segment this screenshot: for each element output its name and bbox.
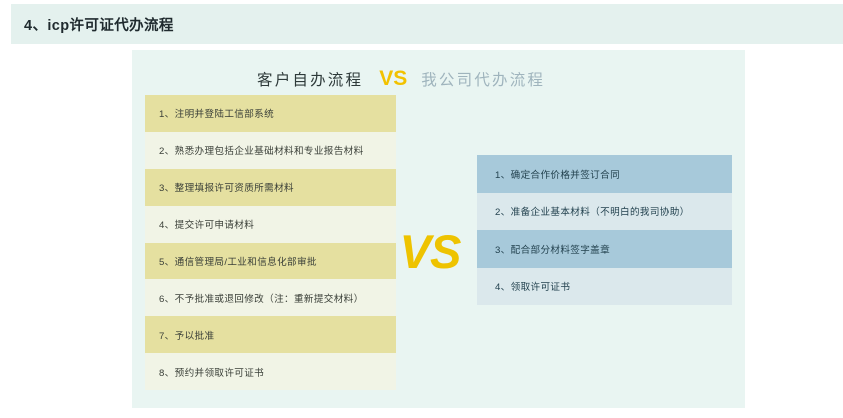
list-item: 2、熟悉办理包括企业基础材料和专业报告材料 <box>145 132 396 169</box>
list-item: 3、配合部分材料签字盖章 <box>477 230 732 268</box>
list-item: 2、准备企业基本材料（不明白的我司协助） <box>477 193 732 231</box>
list-item: 3、整理填报许可资质所需材料 <box>145 169 396 206</box>
column-titles-row: 客户自办流程 VS 我公司代办流程 <box>132 62 745 96</box>
page-root: 4、icp许可证代办流程 客户自办流程 VS 我公司代办流程 1、注明并登陆工信… <box>0 0 843 418</box>
page-title: 4、icp许可证代办流程 <box>24 14 174 35</box>
list-item: 1、确定合作价格并签订合同 <box>477 155 732 193</box>
list-item: 4、提交许可申请材料 <box>145 206 396 243</box>
comparison-panel: 客户自办流程 VS 我公司代办流程 1、注明并登陆工信部系统 2、熟悉办理包括企… <box>132 50 745 408</box>
list-item: 5、通信管理局/工业和信息化部审批 <box>145 243 396 280</box>
section-header: 4、icp许可证代办流程 <box>11 4 843 44</box>
company-flow-list: 1、确定合作价格并签订合同 2、准备企业基本材料（不明白的我司协助） 3、配合部… <box>477 155 732 305</box>
customer-flow-title: 客户自办流程 <box>257 68 363 90</box>
list-item: 1、注明并登陆工信部系统 <box>145 95 396 132</box>
list-item: 7、予以批准 <box>145 316 396 353</box>
customer-flow-list: 1、注明并登陆工信部系统 2、熟悉办理包括企业基础材料和专业报告材料 3、整理填… <box>145 95 396 390</box>
vs-divider-label: VS <box>384 228 476 275</box>
list-item: 6、不予批准或退回修改（注：重新提交材料） <box>145 279 396 316</box>
list-item: 4、领取许可证书 <box>477 268 732 306</box>
list-item: 8、预约并领取许可证书 <box>145 353 396 390</box>
vs-label-small: VS <box>379 67 407 91</box>
company-flow-title: 我公司代办流程 <box>421 68 545 90</box>
